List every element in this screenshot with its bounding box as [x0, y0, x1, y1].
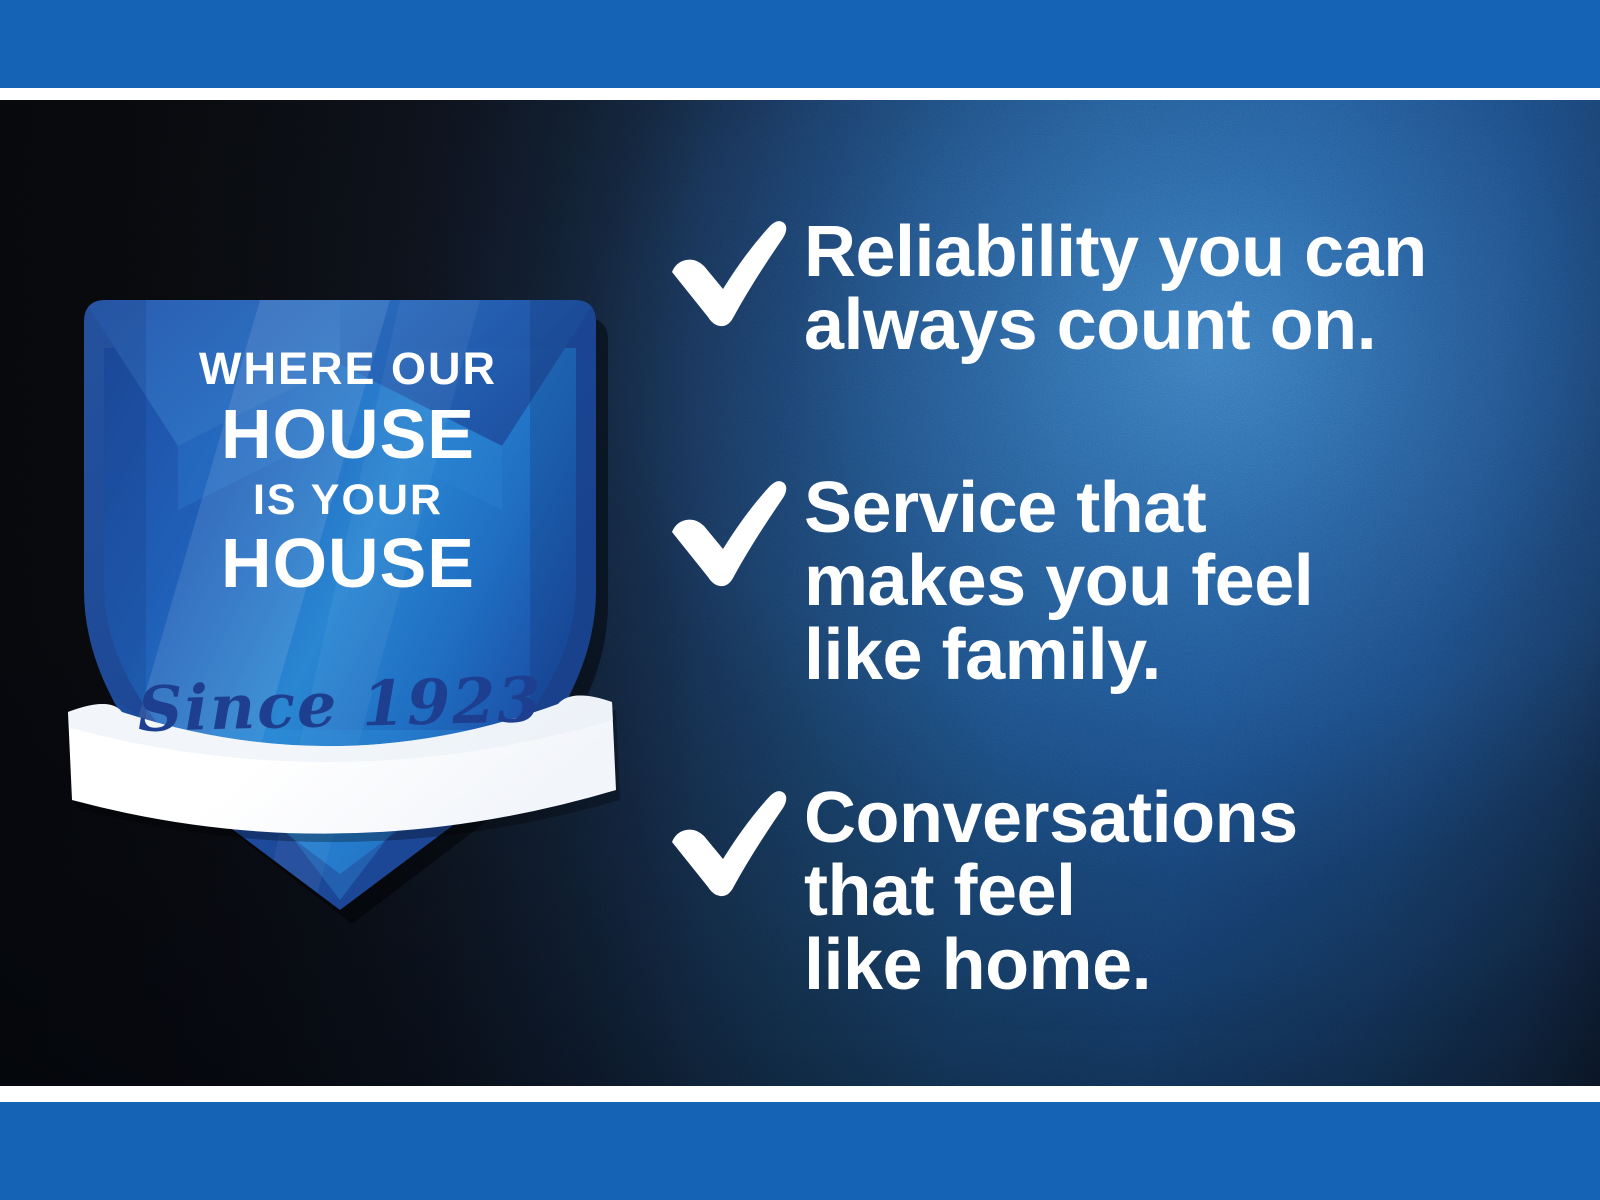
- check-icon: [660, 780, 790, 900]
- top-brand-bar: [0, 0, 1600, 88]
- list-item-text: Reliability you can always count on.: [804, 210, 1427, 363]
- benefits-list: Reliability you can always count on. Ser…: [660, 100, 1560, 1086]
- list-item: Service that makes you feel like family.: [660, 470, 1313, 692]
- shield-badge: Where Our House Is Your House Since 1923: [60, 260, 620, 940]
- content-stage: Where Our House Is Your House Since 1923…: [0, 100, 1600, 1086]
- list-item-text: Conversations that feel like home.: [804, 780, 1298, 1002]
- promo-graphic: Where Our House Is Your House Since 1923…: [0, 0, 1600, 1200]
- bottom-brand-bar: [0, 1102, 1600, 1200]
- list-item-text: Service that makes you feel like family.: [804, 470, 1313, 692]
- list-item: Conversations that feel like home.: [660, 780, 1298, 1002]
- check-icon: [660, 470, 790, 590]
- check-icon: [660, 210, 790, 330]
- shield-graphic: [60, 260, 620, 940]
- list-item: Reliability you can always count on.: [660, 210, 1427, 363]
